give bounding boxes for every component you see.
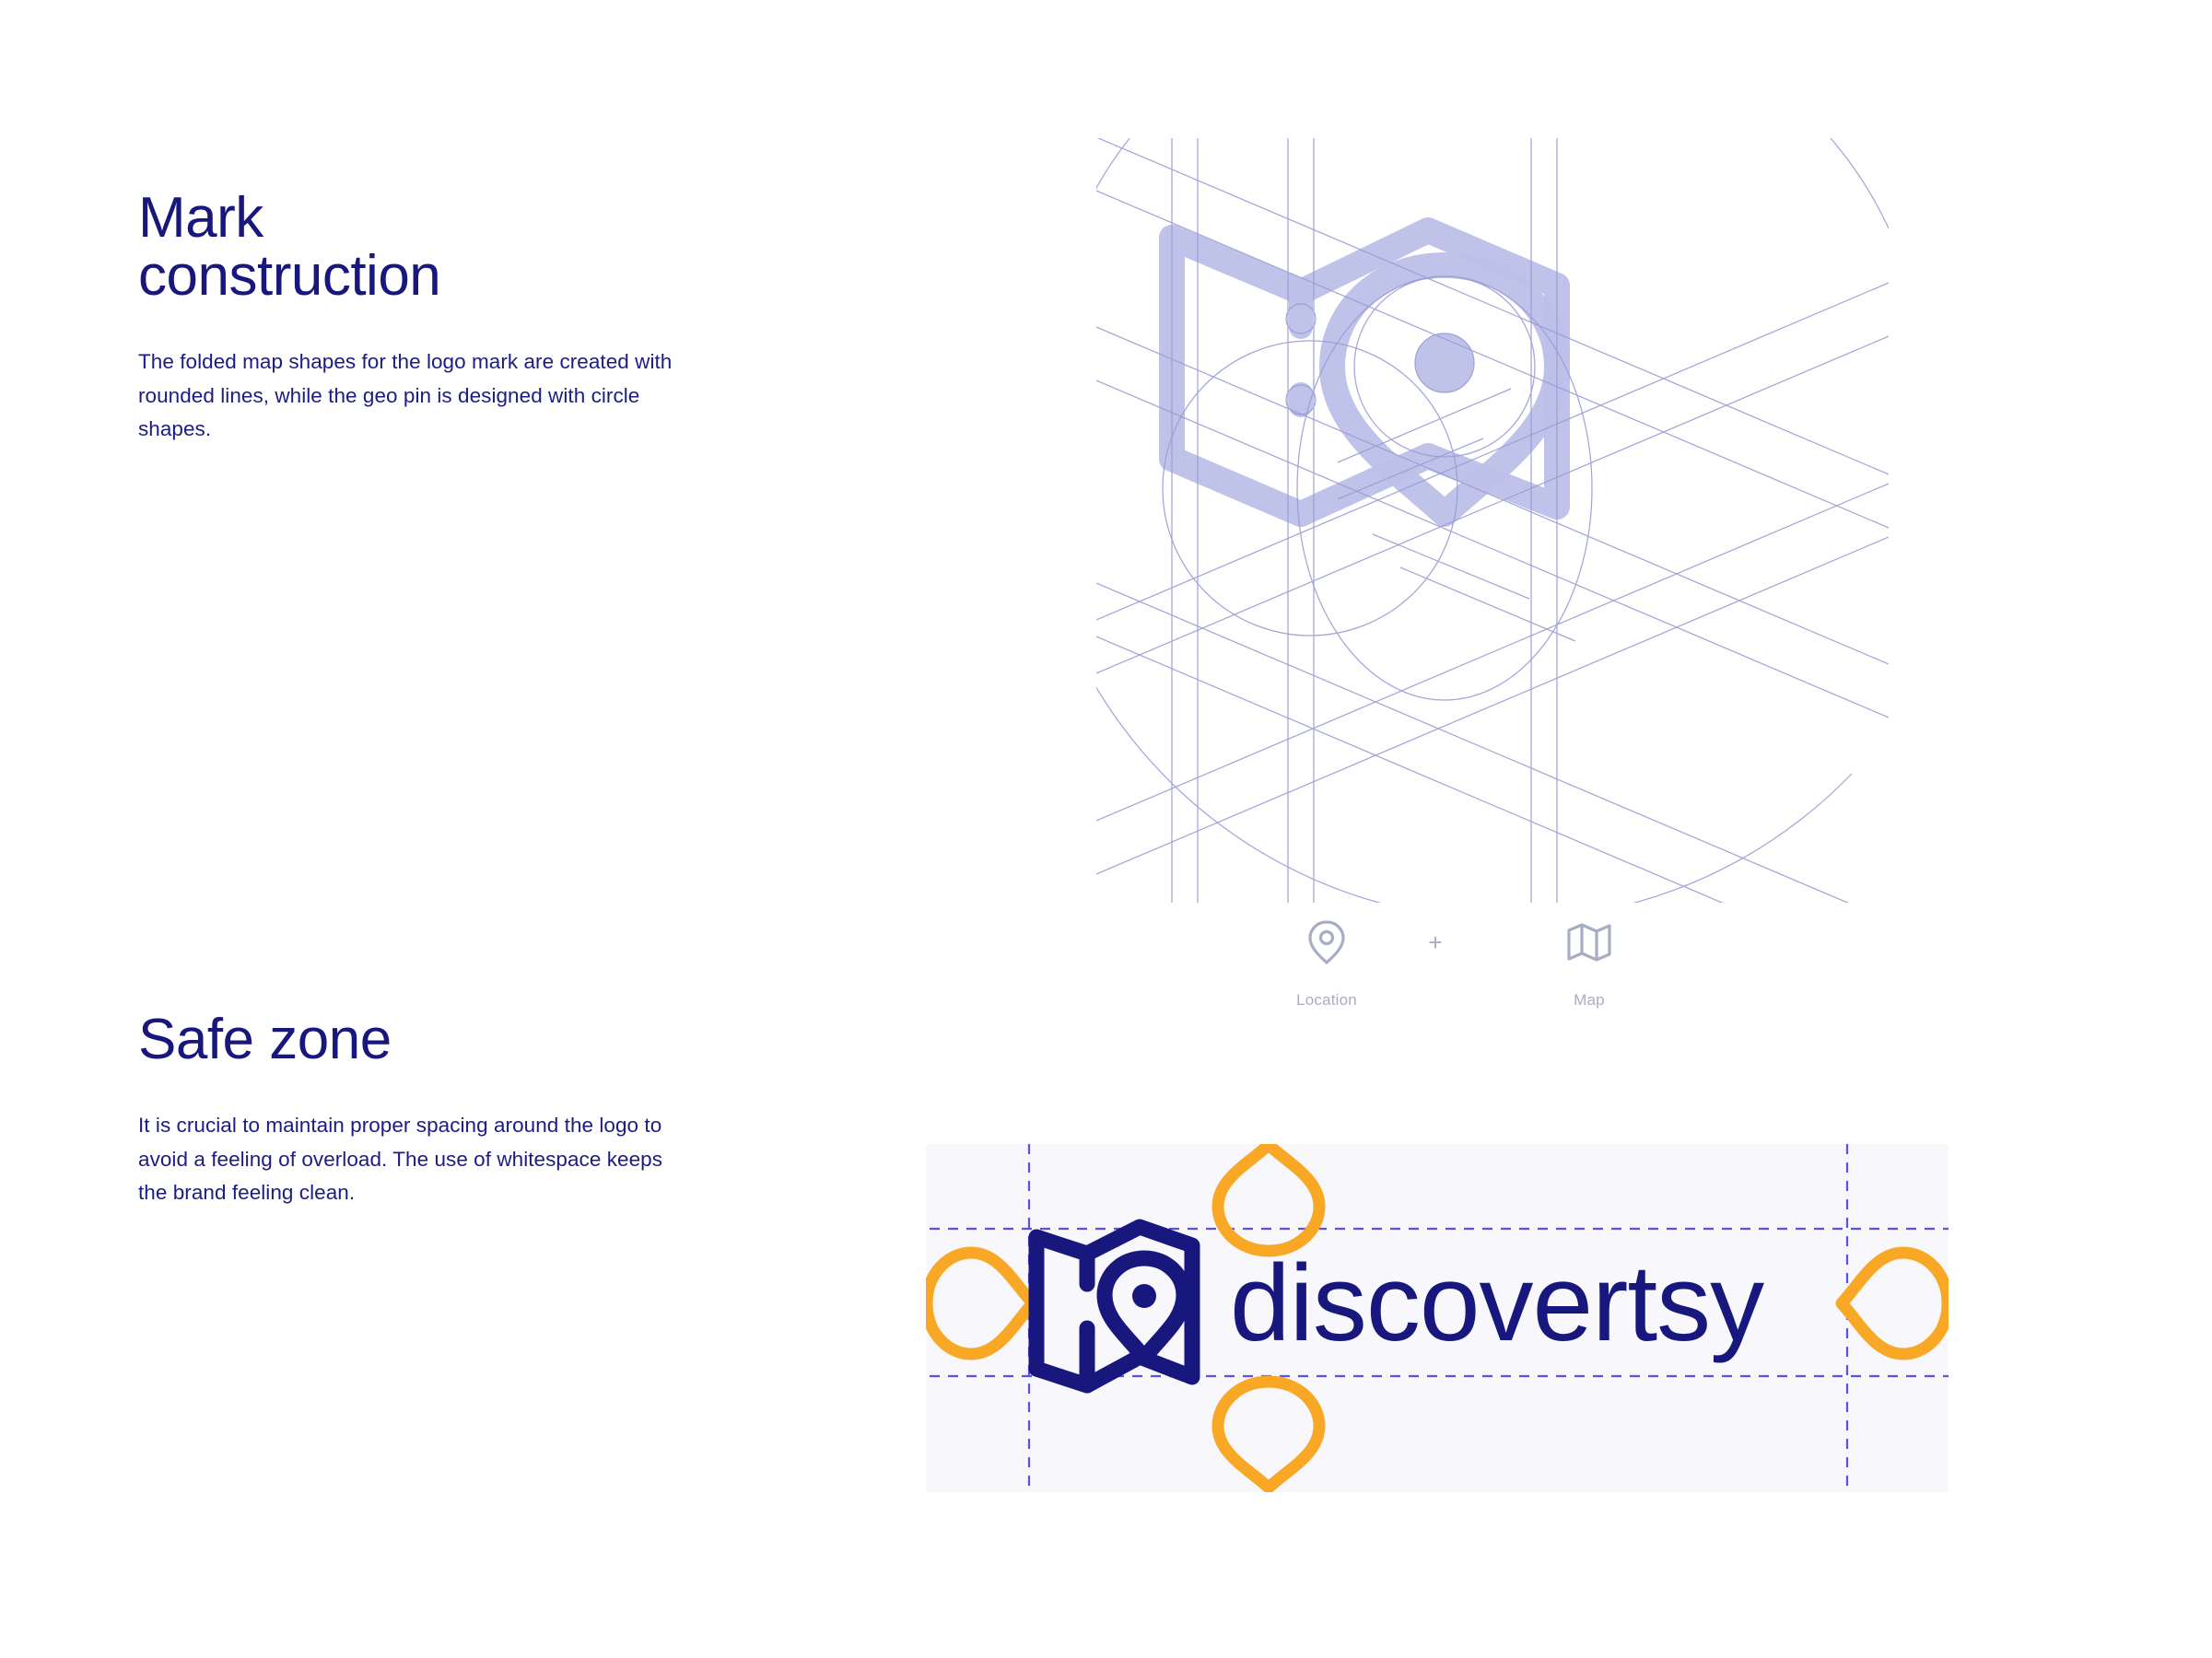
mark-construction-body: The folded map shapes for the logo mark … (138, 345, 691, 446)
mark-construction-diagram (1096, 138, 1889, 903)
safe-zone-title: Safe zone (138, 1010, 709, 1068)
logo-formula-row: Location + Map (1271, 917, 1658, 1045)
safe-zone-body: It is crucial to maintain proper spacing… (138, 1109, 691, 1209)
logo-wordmark: discovertsy (1230, 1243, 1764, 1364)
mark-construction-section: Mark construction The folded map shapes … (138, 189, 709, 447)
formula-location-item: Location (1271, 917, 1382, 1010)
formula-location-label: Location (1271, 991, 1382, 1010)
safe-zone-section: Safe zone It is crucial to maintain prop… (138, 1010, 709, 1210)
location-pin-icon (1271, 917, 1382, 968)
formula-map-label: Map (1534, 991, 1644, 1010)
formula-map-item: Map (1534, 917, 1644, 1010)
folded-map-icon (1534, 917, 1644, 968)
safe-zone-diagram: discovertsy (926, 1144, 1949, 1492)
mark-construction-title: Mark construction (138, 189, 709, 305)
plus-icon: + (1417, 924, 1454, 961)
brand-guidelines-page: Mark construction The folded map shapes … (0, 0, 2212, 1658)
